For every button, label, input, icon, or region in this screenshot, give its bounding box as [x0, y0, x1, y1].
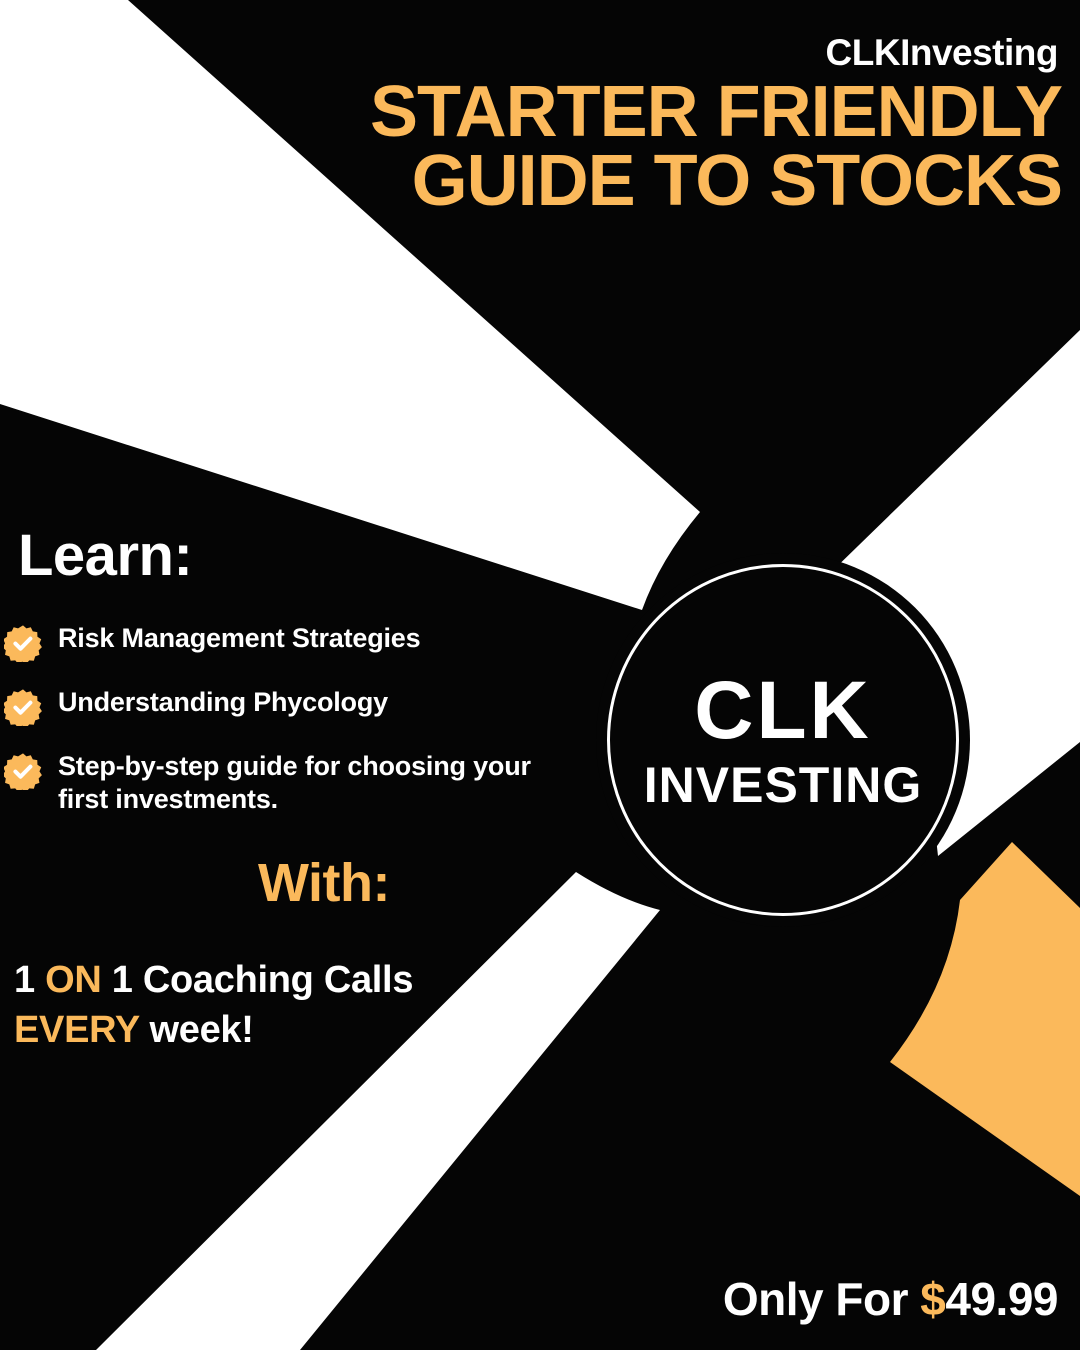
- benefit-text: Risk Management Strategies: [58, 622, 420, 655]
- headline-line-1: STARTER FRIENDLY: [282, 78, 1062, 147]
- logo-primary-text: CLK: [694, 670, 872, 752]
- offer-line-1-part-1: 1: [14, 959, 45, 1001]
- offer-heading: With:: [258, 852, 390, 914]
- page-title: STARTER FRIENDLY GUIDE TO STOCKS: [282, 78, 1062, 216]
- benefit-text: Step-by-step guide for choosing your fir…: [58, 750, 564, 816]
- brand-handle: CLKInvesting: [826, 32, 1058, 74]
- list-item: Understanding Phycology: [4, 686, 564, 726]
- offer-line-1-accent: ON: [45, 959, 101, 1001]
- verified-badge-check-icon: [4, 624, 42, 662]
- benefit-list: Risk Management Strategies Understanding…: [4, 622, 564, 840]
- verified-badge-check-icon: [4, 688, 42, 726]
- currency-symbol: $: [920, 1273, 945, 1325]
- brand-logo-badge: CLK INVESTING: [596, 553, 970, 927]
- list-item: Step-by-step guide for choosing your fir…: [4, 750, 564, 816]
- offer-line-2-accent: EVERY: [14, 1009, 139, 1051]
- learn-heading: Learn:: [18, 522, 192, 589]
- offer-details: 1 ON 1 Coaching Calls EVERY week!: [14, 955, 413, 1055]
- price-amount: 49.99: [945, 1273, 1058, 1325]
- headline-line-2: GUIDE TO STOCKS: [282, 147, 1062, 216]
- price-label: Only For $49.99: [723, 1272, 1058, 1326]
- price-prefix: Only For: [723, 1273, 920, 1325]
- logo-secondary-text: INVESTING: [644, 760, 922, 810]
- offer-line-2-part: week!: [139, 1009, 253, 1051]
- verified-badge-check-icon: [4, 752, 42, 790]
- list-item: Risk Management Strategies: [4, 622, 564, 662]
- poster-canvas: CLKInvesting STARTER FRIENDLY GUIDE TO S…: [0, 0, 1080, 1350]
- benefit-text: Understanding Phycology: [58, 686, 388, 719]
- band-bottom-left: [96, 872, 660, 1350]
- offer-line-1-part-2: 1 Coaching Calls: [102, 959, 414, 1001]
- offer-line-1: 1 ON 1 Coaching Calls: [14, 955, 413, 1005]
- band-bottom-right-orange: [890, 842, 1080, 1196]
- offer-line-2: EVERY week!: [14, 1005, 413, 1055]
